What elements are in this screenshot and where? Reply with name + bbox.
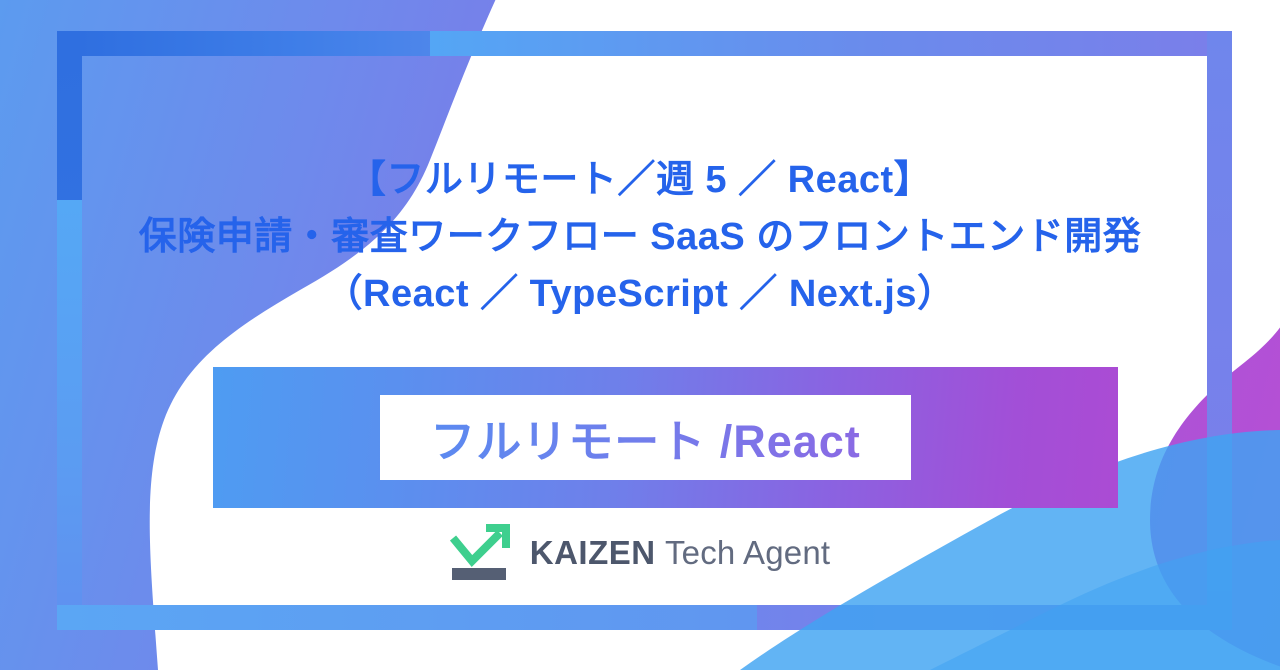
status-badge-label: フルリモート /React [430,405,861,470]
status-badge: フルリモート /React [380,395,911,480]
brand-name-secondary: Tech Agent [665,534,830,571]
job-banner: 【フルリモート／週 5 ／ React】 保険申請・審査ワークフロー SaaS … [0,0,1280,670]
growth-arrow-icon [450,522,514,584]
brand-name-primary: KAIZEN [530,534,656,571]
headline-line-2: 保険申請・審査ワークフロー SaaS のフロントエンド開発 [0,209,1280,266]
brand-wordmark: KAIZEN Tech Agent [530,534,831,572]
headline-line-1: 【フルリモート／週 5 ／ React】 [0,152,1280,209]
headline-line-3: （React ／ TypeScript ／ Next.js） [0,266,1280,323]
page-title: 【フルリモート／週 5 ／ React】 保険申請・審査ワークフロー SaaS … [0,152,1280,323]
frame-segment-bottom [57,605,757,630]
frame-segment-top [430,31,1232,56]
brand-logo: KAIZEN Tech Agent [0,522,1280,584]
